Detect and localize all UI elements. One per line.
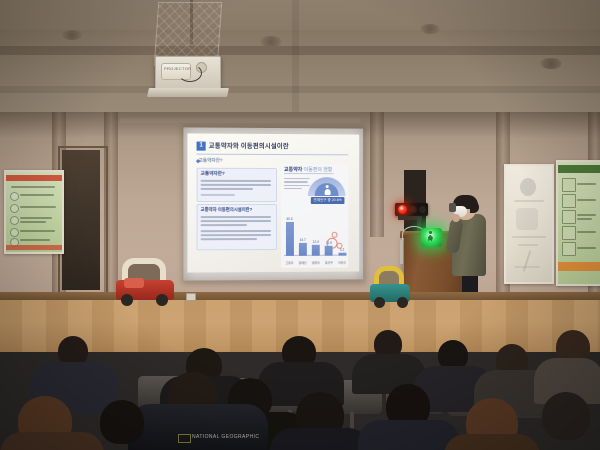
ceiling-slab	[0, 0, 600, 30]
poster-green-right	[556, 160, 600, 286]
ceiling-light-4	[540, 58, 562, 69]
slide-section-heading: 교통약자란?	[199, 158, 223, 164]
audience-head	[100, 400, 144, 444]
audience-body	[0, 432, 104, 450]
slide-box-1-heading: 교통약자란?	[201, 171, 225, 177]
jacket-text: NATIONAL GEOGRAPHIC	[192, 434, 259, 440]
slide-box-2-line	[201, 220, 271, 222]
poster-white-right	[504, 164, 554, 284]
projector-cable	[178, 64, 202, 82]
projection-screen: 1 교통약자와 이동편의시설이란 교통약자란? 교통약자란? 교통약자 이동편의…	[183, 127, 363, 280]
ceiling-beam-3	[292, 0, 299, 112]
bar-4	[338, 252, 346, 255]
ceiling-beam-2	[0, 86, 600, 93]
microphone-icon	[449, 203, 456, 212]
slide-title: 교통약자와 이동편의시설이란	[209, 142, 289, 151]
ceiling-light-3	[420, 24, 440, 34]
audience-head	[542, 392, 590, 440]
slide-box-2-line	[201, 230, 271, 232]
auditorium-photo: PROJECTOR	[0, 0, 600, 450]
bar-item: 11.6 임산부	[324, 241, 333, 255]
ceiling-beam	[0, 46, 600, 55]
chart-subtitle-rule	[284, 173, 334, 174]
wall-pilaster-mid	[370, 112, 384, 237]
wall-trim	[120, 118, 360, 123]
slide-box-1-line	[201, 194, 235, 196]
poster-green-left	[4, 170, 64, 254]
traffic-light-red-lit	[398, 205, 407, 214]
bar-value: 14.7	[300, 238, 306, 242]
slide-box-1-line	[201, 180, 271, 182]
ceiling-light-2	[260, 36, 282, 47]
traffic-light-green-off	[419, 206, 426, 213]
ceiling-light-1	[62, 30, 82, 40]
bar-item: 40.0 고령자	[285, 217, 294, 255]
audience-body-national-geographic	[128, 404, 268, 450]
dark-wall-panel	[404, 170, 426, 232]
bar-value: 3.2	[340, 248, 344, 252]
slide-box-2-line	[201, 238, 257, 240]
bar-item: 12.4 영유아	[311, 240, 320, 255]
slide-box-2-heading: 교통약자 이동편의시설이란?	[201, 207, 253, 213]
chart-legend-block	[284, 178, 312, 192]
bar-3	[325, 245, 333, 255]
projector-mount-plate	[147, 88, 229, 97]
audience-body	[358, 420, 460, 450]
slide-number: 1	[197, 142, 206, 151]
slide-title-bar: 1 교통약자와 이동편의시설이란	[197, 142, 347, 154]
national-geographic-logo-frame	[178, 434, 191, 443]
slide-chart-panel: 교통약자 이동편의 현황 전체인구 중 20.6%	[281, 164, 348, 268]
bar-2	[312, 244, 320, 255]
slide-number-badge: 1	[197, 142, 206, 151]
bar-item: 14.7 장애인	[298, 238, 307, 255]
chart-bars: 40.0 고령자 14.7 장애인 12.4 영유아	[285, 215, 346, 255]
bar-value: 40.0	[286, 217, 292, 221]
walking-person-icon	[427, 231, 435, 243]
bar-category: 어린이	[334, 260, 350, 264]
pedestrian-signal-stand	[400, 240, 403, 264]
traffic-light-amber-off	[410, 206, 417, 213]
slide-box-1-line	[201, 188, 253, 190]
presentation-slide: 1 교통약자와 이동편의시설이란 교통약자란? 교통약자란? 교통약자 이동편의…	[187, 133, 359, 272]
toy-car-teal	[370, 266, 414, 310]
presenter-hand	[452, 214, 460, 222]
toy-car-red	[114, 258, 176, 306]
wall-outlet-2	[186, 293, 196, 301]
slide-box-2-line	[201, 234, 271, 236]
slide-box-2-line	[201, 224, 247, 226]
audience-body	[270, 428, 370, 450]
bar-item: 3.2 어린이	[338, 248, 347, 255]
audience-body	[444, 434, 540, 450]
slide-box-2-line	[201, 216, 271, 218]
bar-value: 11.6	[326, 241, 332, 245]
doorway-frame	[58, 146, 108, 296]
bar-1	[299, 242, 307, 255]
bar-0	[285, 221, 293, 255]
chart-callout-badge: 전체인구 중 20.6%	[311, 197, 345, 204]
chart-person-icon	[325, 185, 331, 195]
slide-title-rule	[197, 154, 349, 156]
bar-value: 12.4	[313, 240, 319, 244]
slide-box-1-line	[201, 184, 271, 186]
